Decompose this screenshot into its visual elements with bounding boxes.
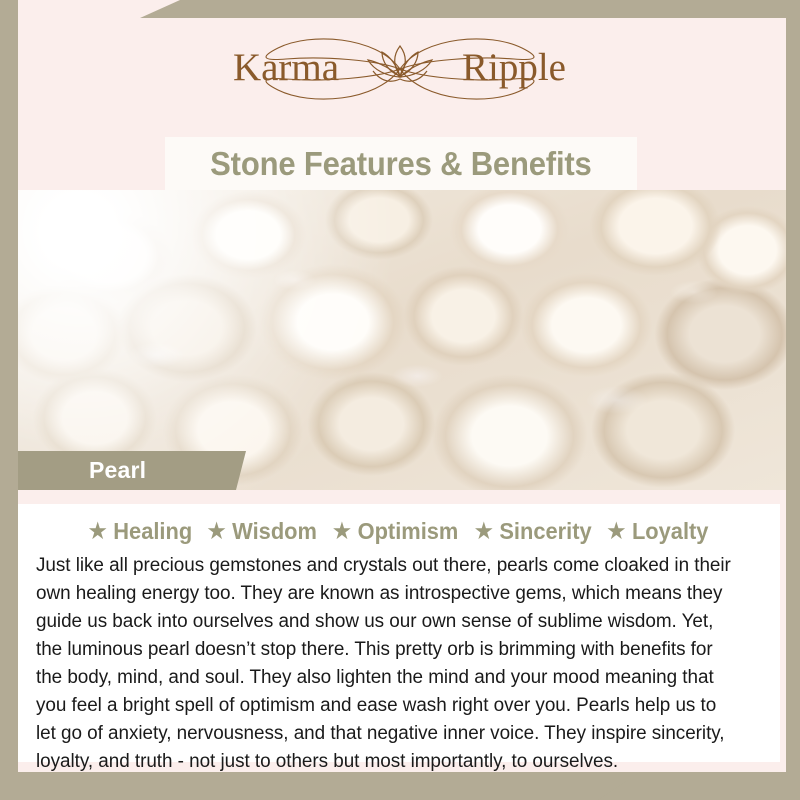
brand-logo: Karma Ripple (0, 26, 800, 112)
keyword-label: Optimism (358, 518, 459, 545)
star-icon: ★ (89, 521, 107, 542)
section-title-band: Stone Features & Benefits (165, 137, 637, 190)
pearl-photo (18, 190, 786, 490)
stone-name-label: Pearl (89, 457, 146, 484)
star-icon: ★ (208, 521, 226, 542)
page-title: Stone Features & Benefits (210, 145, 591, 183)
description-text: Just like all precious gemstones and cry… (36, 551, 739, 775)
keyword-item-wisdom: ★ Wisdom (198, 518, 317, 545)
pearl-photo-iridescence (18, 190, 786, 490)
keyword-label: Healing (114, 518, 193, 545)
star-icon: ★ (608, 521, 626, 542)
keyword-item-sincerity: ★ Sincerity (466, 518, 592, 545)
keyword-item-healing: ★ Healing (89, 518, 192, 545)
frame-top-band (140, 0, 800, 18)
description-card: ★ Healing ★ Wisdom ★ Optimism ★ Sincerit… (18, 504, 780, 762)
frame-bottom-band (0, 772, 640, 800)
keyword-label: Wisdom (232, 518, 317, 545)
keyword-label: Sincerity (500, 518, 592, 545)
brand-name-left: Karma (233, 46, 339, 89)
keyword-list: ★ Healing ★ Wisdom ★ Optimism ★ Sincerit… (18, 518, 780, 545)
keyword-item-loyalty: ★ Loyalty (598, 518, 709, 545)
infographic-page: Pearl Karma Ripple Stone Feat (0, 0, 800, 800)
frame-left-band (0, 0, 18, 800)
brand-name-right: Ripple (462, 46, 566, 89)
star-icon: ★ (333, 521, 351, 542)
keyword-label: Loyalty (632, 518, 709, 545)
star-icon: ★ (475, 521, 493, 542)
brand-logo-svg: Karma Ripple (190, 26, 610, 112)
frame-right-band (786, 0, 800, 800)
stone-name-banner: Pearl (18, 451, 246, 490)
keyword-item-optimism: ★ Optimism (324, 518, 459, 545)
